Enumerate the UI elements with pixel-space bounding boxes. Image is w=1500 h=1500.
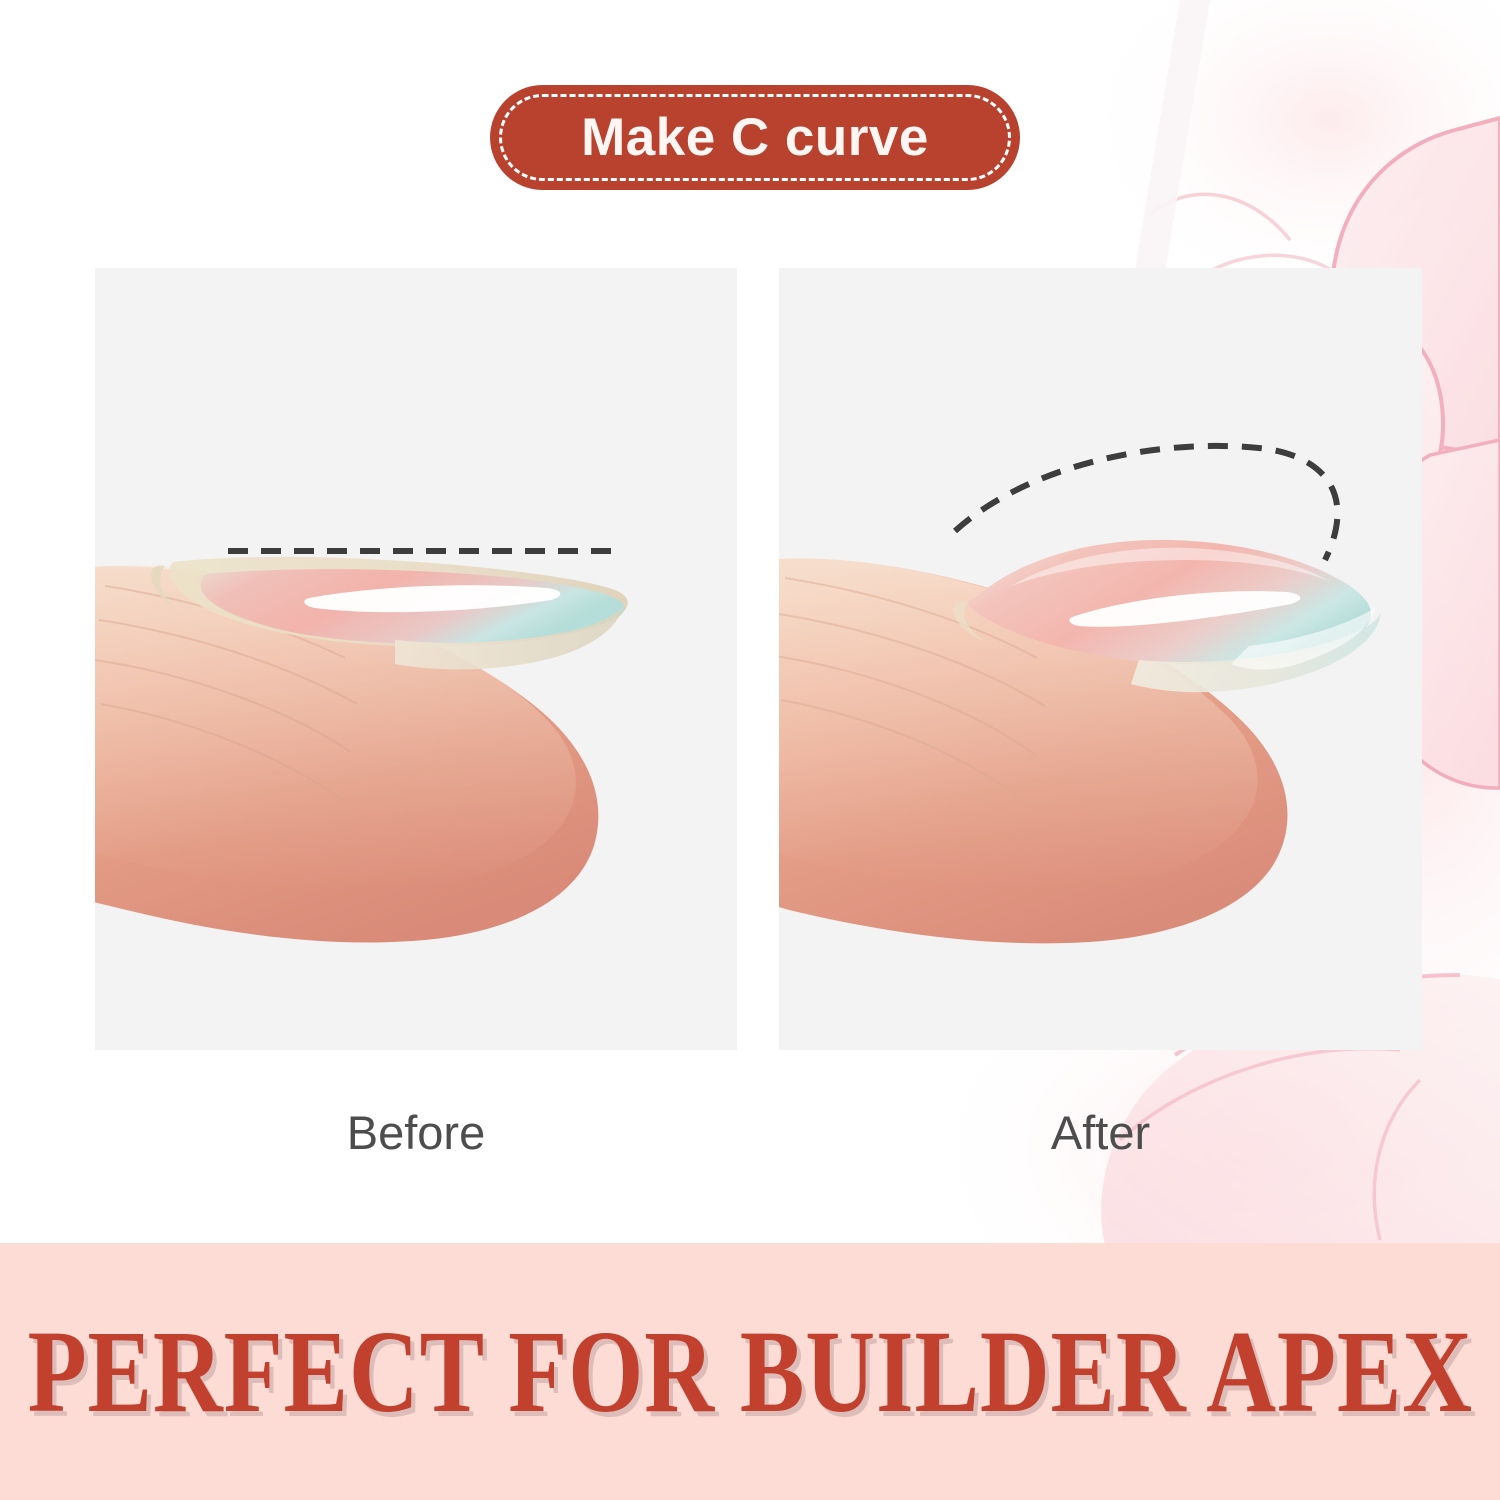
infographic-root: Make C curve xyxy=(0,0,1500,1500)
caption-before: Before xyxy=(95,1098,737,1168)
comparison-panel-after xyxy=(779,268,1422,1050)
before-nail-photo xyxy=(95,268,737,1050)
caption-after: After xyxy=(779,1098,1422,1168)
banner-headline: PERFECT FOR BUILDER APEX xyxy=(27,1313,1472,1431)
badge-label: Make C curve xyxy=(581,111,929,164)
header-badge: Make C curve xyxy=(490,85,1020,190)
comparison-panel-before xyxy=(95,268,737,1050)
bottom-banner: PERFECT FOR BUILDER APEX xyxy=(0,1243,1500,1500)
after-nail-photo xyxy=(779,268,1422,1050)
